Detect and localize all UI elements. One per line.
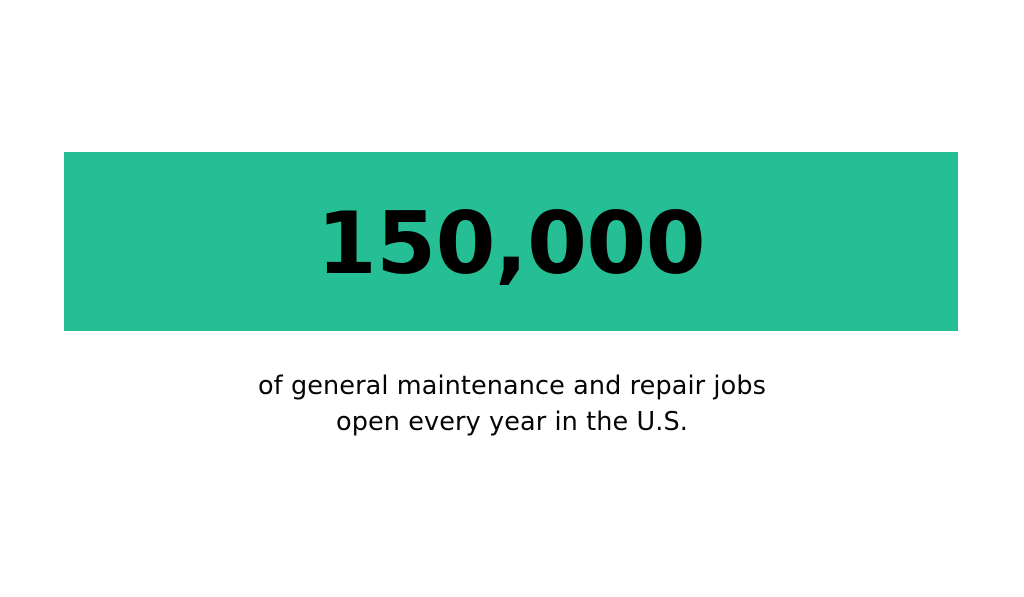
stat-figure-value: 150,000 xyxy=(317,201,705,287)
stat-highlight-banner: 150,000 xyxy=(64,152,958,331)
stat-caption-line-1: of general maintenance and repair jobs xyxy=(0,368,1024,404)
stat-caption: of general maintenance and repair jobs o… xyxy=(0,368,1024,440)
stat-callout-card: 150,000 of general maintenance and repai… xyxy=(0,0,1024,597)
stat-caption-line-2: open every year in the U.S. xyxy=(0,404,1024,440)
